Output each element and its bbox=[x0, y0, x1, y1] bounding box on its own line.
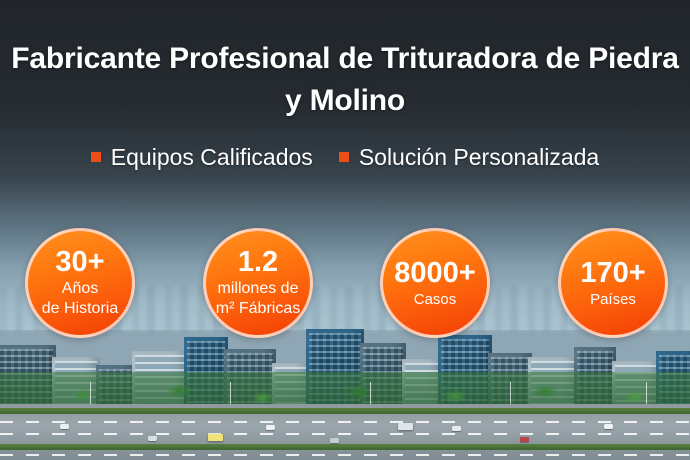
stat-value: 8000+ bbox=[394, 258, 475, 288]
stat-label: Países bbox=[590, 290, 636, 309]
stat-value: 1.2 bbox=[238, 247, 278, 277]
square-bullet-icon bbox=[91, 152, 101, 162]
feature-label: Solución Personalizada bbox=[359, 142, 599, 172]
stat-label-line: Años bbox=[21, 279, 139, 299]
feature-label: Equipos Calificados bbox=[111, 142, 313, 172]
stat-value: 30+ bbox=[55, 247, 104, 277]
feature-item-equipos: Equipos Calificados bbox=[91, 142, 313, 172]
stat-circle-paises: 170+ Países bbox=[558, 228, 668, 338]
stat-label-line: Casos bbox=[414, 290, 457, 309]
stat-label-line: de Historia bbox=[21, 299, 139, 319]
stat-label: Casos bbox=[414, 290, 457, 309]
stat-circle-fabricas: 1.2 millones de m² Fábricas bbox=[203, 228, 313, 338]
stat-label-line: millones de bbox=[193, 279, 323, 299]
square-bullet-icon bbox=[339, 152, 349, 162]
stat-label: millones de m² Fábricas bbox=[193, 279, 323, 319]
banner-content: Fabricante Profesional de Trituradora de… bbox=[0, 0, 690, 460]
stat-circle-group: 30+ Años de Historia 1.2 millones de m² … bbox=[0, 228, 690, 340]
stat-circle-anos-historia: 30+ Años de Historia bbox=[25, 228, 135, 338]
stat-label-line: Países bbox=[590, 290, 636, 309]
stat-label-line: m² Fábricas bbox=[193, 299, 323, 319]
stat-label: Años de Historia bbox=[21, 279, 139, 319]
banner-headline: Fabricante Profesional de Trituradora de… bbox=[0, 38, 690, 122]
promo-banner: Fabricante Profesional de Trituradora de… bbox=[0, 0, 690, 460]
feature-list: Equipos Calificados Solución Personaliza… bbox=[0, 142, 690, 172]
stat-circle-casos: 8000+ Casos bbox=[380, 228, 490, 338]
stat-value: 170+ bbox=[580, 258, 645, 288]
feature-item-solucion: Solución Personalizada bbox=[339, 142, 599, 172]
